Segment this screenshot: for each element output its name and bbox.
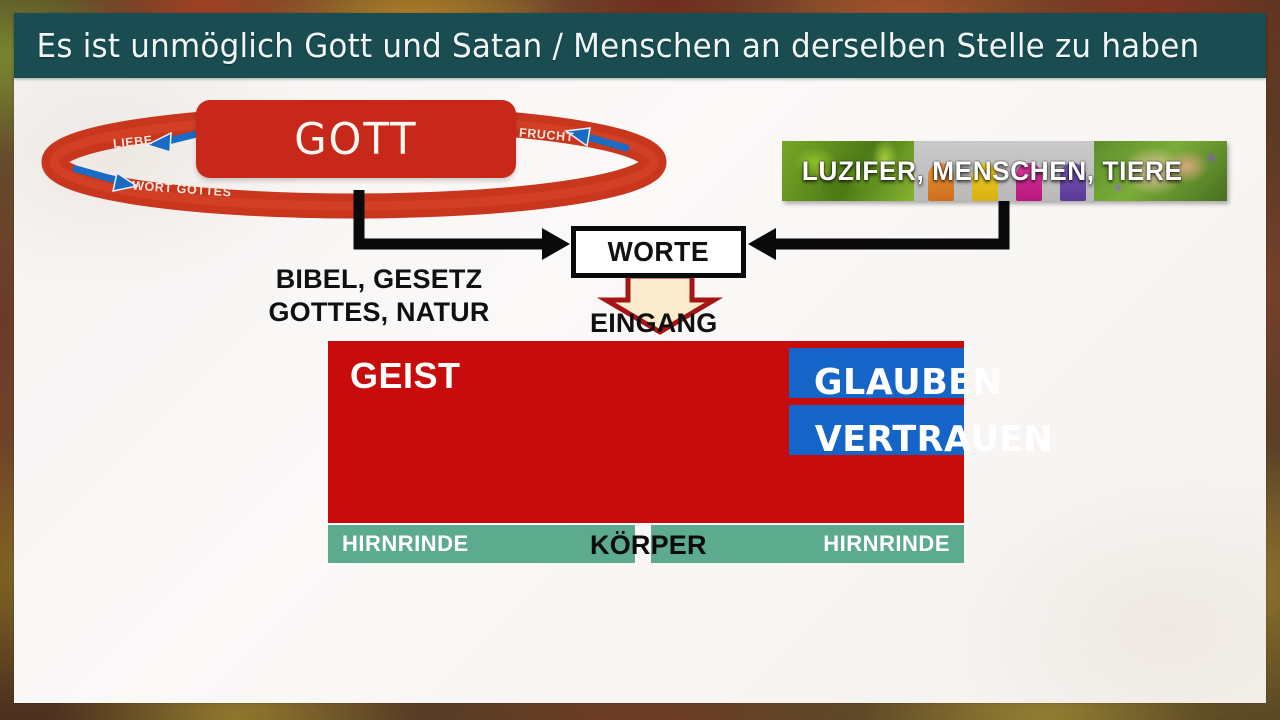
glauben-box[interactable]: GLAUBEN xyxy=(789,348,964,398)
slide-title-bar: Es ist unmöglich Gott und Satan / Mensch… xyxy=(14,13,1266,78)
hirnrinde-right-label: HIRNRINDE xyxy=(809,531,964,557)
banner-text-overlay: LUZIFER, MENSCHEN, TIERE xyxy=(782,141,1227,201)
page-title: Es ist unmöglich Gott und Satan / Mensch… xyxy=(14,26,1199,65)
geist-block[interactable]: GEIST GLAUBEN VERTRAUEN xyxy=(328,341,964,523)
vertrauen-box[interactable]: VERTRAUEN xyxy=(789,405,964,455)
gott-label: GOTT xyxy=(294,114,417,165)
worte-label: WORTE xyxy=(608,236,709,268)
koerper-label: KÖRPER xyxy=(590,530,707,561)
geist-label: GEIST xyxy=(350,355,461,397)
vertrauen-label: VERTRAUEN xyxy=(815,419,1054,460)
glauben-label: GLAUBEN xyxy=(814,362,1002,403)
hirnrinde-left-label: HIRNRINDE xyxy=(328,531,483,557)
eingang-label: EINGANG xyxy=(590,308,717,339)
worte-box[interactable]: WORTE xyxy=(571,226,746,278)
hirnrinde-left-segment[interactable]: HIRNRINDE xyxy=(328,525,635,563)
luzifer-label: LUZIFER, MENSCHEN, TIERE xyxy=(802,156,1183,187)
diagram-root: GOTT LIEBE WORT GOTTES FRUCHT LUZIFER, M… xyxy=(14,78,1266,703)
slide-canvas: GOTT LIEBE WORT GOTTES FRUCHT LUZIFER, M… xyxy=(14,78,1266,703)
gott-box[interactable]: GOTT xyxy=(196,100,516,178)
connector-right xyxy=(748,201,1004,260)
luzifer-banner[interactable]: LUZIFER, MENSCHEN, TIERE xyxy=(782,141,1227,201)
left-source-label: BIBEL, GESETZ GOTTES, NATUR xyxy=(214,263,544,329)
